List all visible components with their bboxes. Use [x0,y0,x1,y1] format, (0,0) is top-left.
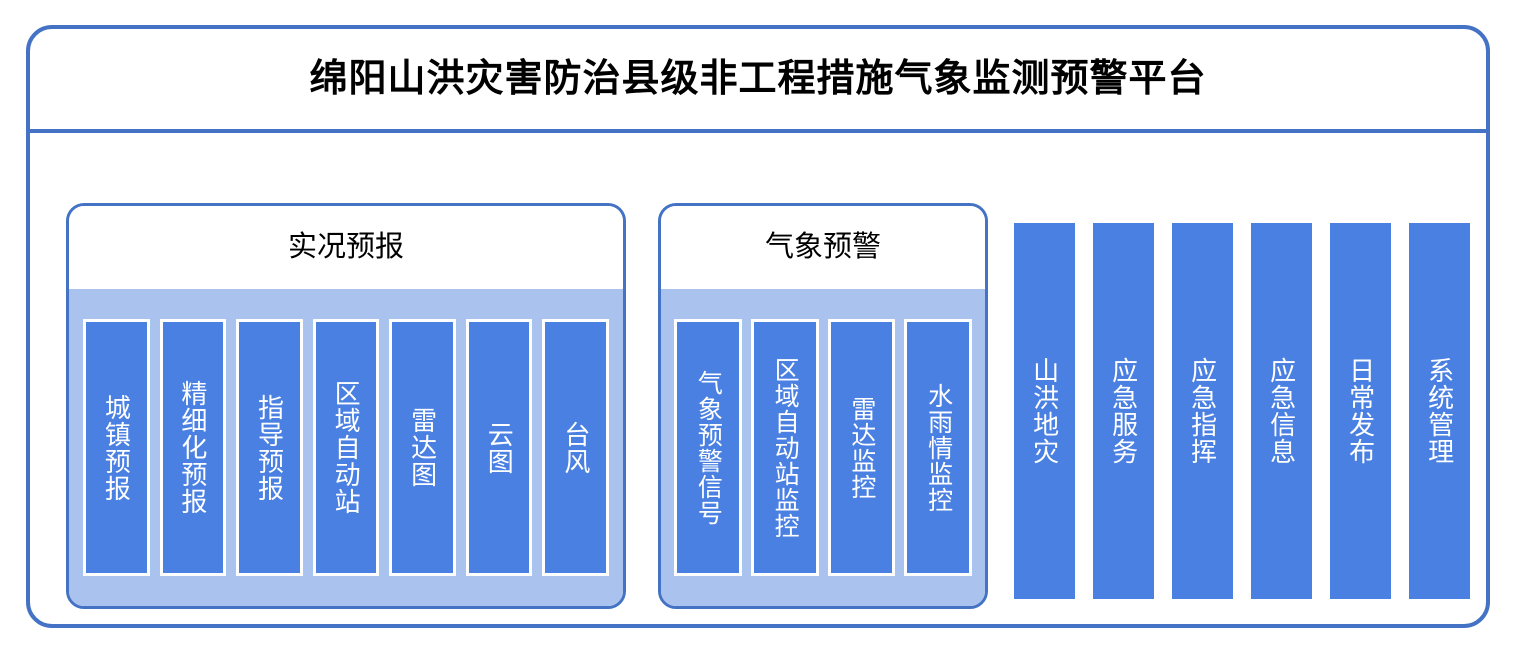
group-title-realtime-forecast: 实况预报 [288,233,404,262]
platform-body: 实况预报 城镇预报 精细化预报 指导预报 区域自动站 [30,133,1486,628]
module-bar-label: 应急指挥 [1187,357,1217,465]
module-bar-group: 山洪地灾 应急服务 应急指挥 应急信息 日常发布 系统管理 [1014,223,1470,599]
module-bar-label: 应急服务 [1108,357,1138,465]
module-chip-label: 区域自动站 [331,380,361,515]
module-chip-radar-monitor[interactable]: 雷达监控 [828,319,896,576]
platform-frame: 绵阳山洪灾害防治县级非工程措施气象监测预警平台 实况预报 城镇预报 精细化预报 … [26,25,1490,628]
group-header-weather-warning: 气象预警 [661,206,985,289]
module-chip-label: 城镇预报 [101,394,131,502]
module-chip-label: 指导预报 [254,394,284,502]
module-chip-water-rain-monitor[interactable]: 水雨情监控 [904,319,972,576]
module-bar-label: 应急信息 [1266,357,1296,465]
module-chip-label: 水雨情监控 [924,383,953,513]
module-chip-label: 区域自动站监控 [770,357,799,539]
group-header-realtime-forecast: 实况预报 [69,206,623,289]
module-chip-label: 气象预警信号 [693,370,722,526]
module-bar-emergency-service[interactable]: 应急服务 [1093,223,1154,599]
group-panel-realtime-forecast: 实况预报 城镇预报 精细化预报 指导预报 区域自动站 [66,203,626,609]
module-chip-regional-auto-station-monitor[interactable]: 区域自动站监控 [751,319,819,576]
module-bar-system-management[interactable]: 系统管理 [1409,223,1470,599]
page-title: 绵阳山洪灾害防治县级非工程措施气象监测预警平台 [309,60,1206,98]
module-chip-label: 云图 [484,421,514,475]
module-chip-guidance-forecast[interactable]: 指导预报 [236,319,303,576]
platform-title-bar: 绵阳山洪灾害防治县级非工程措施气象监测预警平台 [30,29,1486,133]
module-bar-emergency-information[interactable]: 应急信息 [1251,223,1312,599]
diagram-canvas: 绵阳山洪灾害防治县级非工程措施气象监测预警平台 实况预报 城镇预报 精细化预报 … [0,0,1518,654]
module-chip-regional-auto-station[interactable]: 区域自动站 [313,319,380,576]
group-title-weather-warning: 气象预警 [765,233,881,262]
module-chip-refined-forecast[interactable]: 精细化预报 [160,319,227,576]
group-panel-weather-warning: 气象预警 气象预警信号 区域自动站监控 雷达监控 水雨情监控 [658,203,988,609]
group-items-realtime-forecast: 城镇预报 精细化预报 指导预报 区域自动站 雷达图 云图 [69,289,623,606]
module-chip-label: 雷达图 [408,407,438,488]
module-chip-label: 雷达监控 [847,396,876,500]
group-items-weather-warning: 气象预警信号 区域自动站监控 雷达监控 水雨情监控 [661,289,985,606]
module-chip-cloud-map[interactable]: 云图 [466,319,533,576]
module-chip-label: 精细化预报 [178,380,208,515]
module-chip-typhoon[interactable]: 台风 [542,319,609,576]
module-bar-label: 日常发布 [1345,357,1375,465]
module-bar-label: 系统管理 [1424,357,1454,465]
module-chip-radar-map[interactable]: 雷达图 [389,319,456,576]
module-bar-daily-release[interactable]: 日常发布 [1330,223,1391,599]
module-bar-label: 山洪地灾 [1029,357,1059,465]
module-bar-emergency-command[interactable]: 应急指挥 [1172,223,1233,599]
module-chip-weather-warning-signal[interactable]: 气象预警信号 [674,319,742,576]
module-chip-town-forecast[interactable]: 城镇预报 [83,319,150,576]
module-bar-flood-geohazard[interactable]: 山洪地灾 [1014,223,1075,599]
module-chip-label: 台风 [561,421,591,475]
